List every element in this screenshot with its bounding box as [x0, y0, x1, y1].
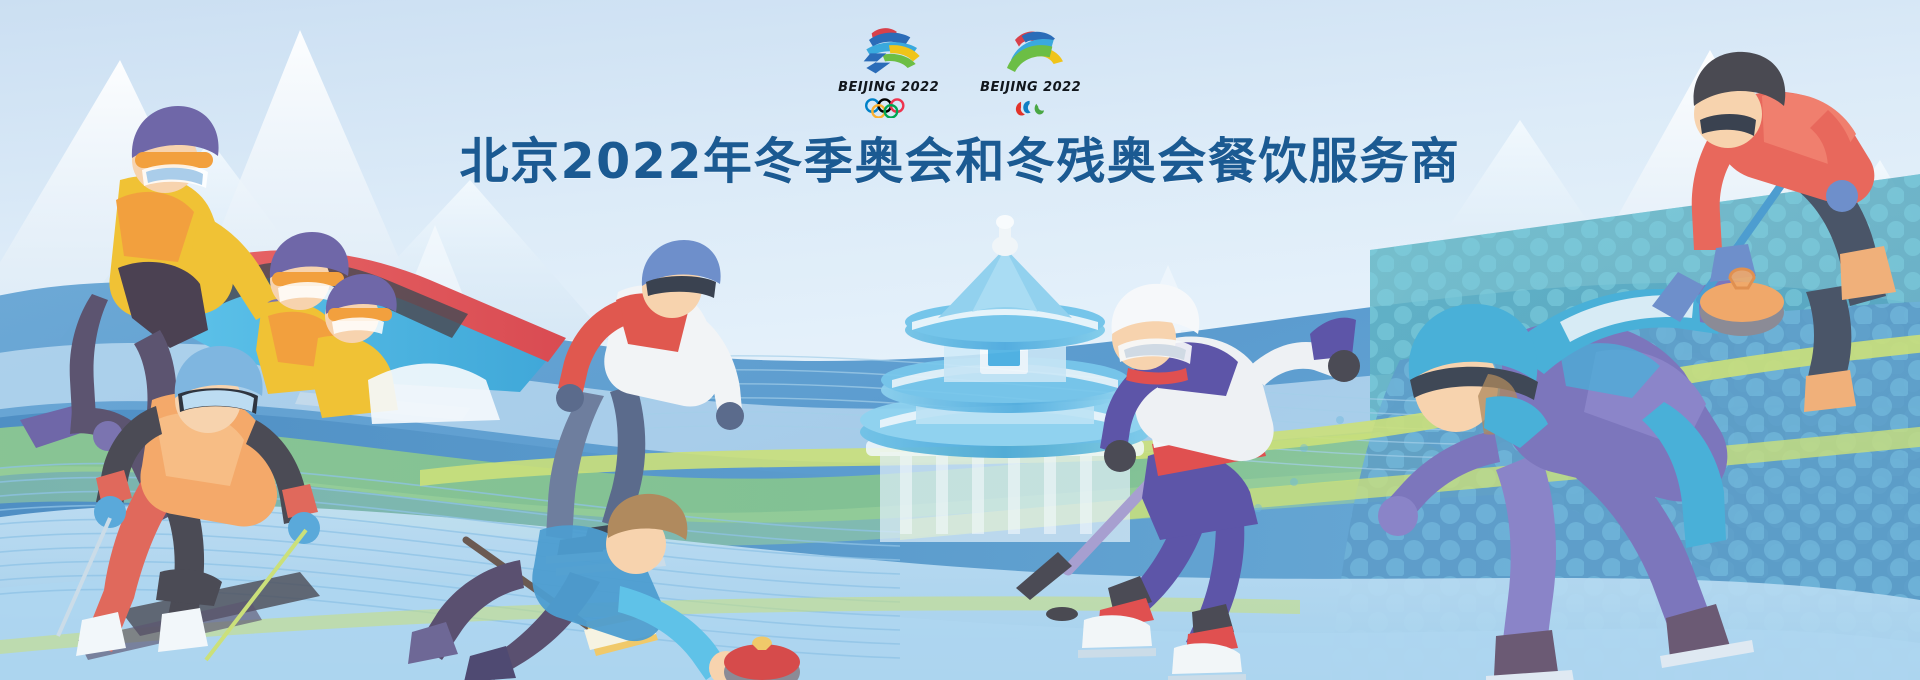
speed-skater-right: [1378, 280, 1762, 680]
cross-country-skier: [58, 346, 320, 660]
emblem-row: BEIJING 2022 BEIJING 2022: [0, 24, 1920, 118]
olympic-emblem: BEIJING 2022: [839, 24, 939, 118]
paralympic-ribbon-icon: [990, 24, 1072, 76]
ice-hockey-player: [1016, 284, 1360, 680]
olympics-banner: BEIJING 2022 BEIJING 2022: [0, 0, 1920, 680]
paralympic-emblem: BEIJING 2022: [981, 24, 1081, 118]
paralympic-wordmark: BEIJING 2022: [980, 79, 1081, 95]
agitos-icon: [1002, 98, 1059, 118]
olympic-ribbon-icon: [848, 24, 930, 76]
page-title: 北京2022年冬季奥会和冬残奥会餐饮服务商: [0, 122, 1920, 193]
olympic-wordmark: BEIJING 2022: [838, 79, 939, 95]
olympic-rings-icon: [860, 98, 917, 118]
